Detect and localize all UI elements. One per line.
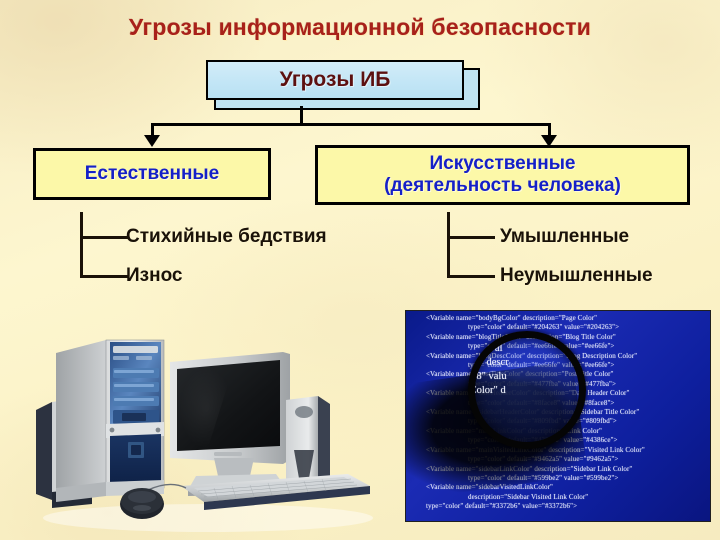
branch-node-artificial: Искусственные (деятельность человека) xyxy=(315,145,690,205)
branch-node-artificial-label-line2: (деятельность человека) xyxy=(384,175,621,197)
magnified-code-line: default="#477fba" val xyxy=(468,342,586,356)
connector-left-arrowhead xyxy=(144,135,160,147)
bracket-natural xyxy=(80,212,132,278)
branch-node-natural: Естественные xyxy=(33,148,271,200)
magnified-code-line: sidebarHeaderColor" d xyxy=(468,384,586,398)
magnifier-glass-icon: default="#ee66fe"postTitleColor" descrid… xyxy=(468,331,586,449)
slide-canvas: Угрозы информационной безопасности Угроз… xyxy=(0,0,720,540)
code-line: <Variable name="bodyBgColor" description… xyxy=(410,314,711,323)
code-line: description="Sidebar Visited Link Color" xyxy=(410,493,711,502)
code-line: type="color" default="#3372b6" value="#3… xyxy=(410,502,711,511)
connector-horizontal-bar xyxy=(151,123,551,126)
magnified-code-line: dateHeaderBUG" descr xyxy=(468,356,586,370)
magnified-code-text: default="#ee66fe"postTitleColor" descrid… xyxy=(468,331,586,398)
magnified-code-line: default="#8face8" valu xyxy=(468,370,586,384)
leaf-artificial-2: Неумышленные xyxy=(500,265,653,287)
root-node-label: Угрозы ИБ xyxy=(280,68,391,92)
leaf-natural-1: Стихийные бедствия xyxy=(126,226,327,248)
bracket-artificial xyxy=(447,212,499,278)
branch-node-natural-label: Естественные xyxy=(85,163,219,185)
page-title: Угрозы информационной безопасности xyxy=(0,14,720,41)
root-node: Угрозы ИБ xyxy=(206,60,474,106)
xml-code-screenshot: <Variable name="bodyBgColor" description… xyxy=(405,310,711,522)
leaf-natural-2: Износ xyxy=(126,265,183,287)
branch-node-artificial-label-line1: Искусственные xyxy=(429,153,575,175)
tower xyxy=(56,340,164,502)
monitor xyxy=(170,352,290,496)
leaf-artificial-1: Умышленные xyxy=(500,226,629,248)
root-node-face: Угрозы ИБ xyxy=(206,60,464,100)
desktop-computer-photo xyxy=(18,318,393,533)
code-line: type="color" default="#204263" value="#2… xyxy=(410,323,711,332)
